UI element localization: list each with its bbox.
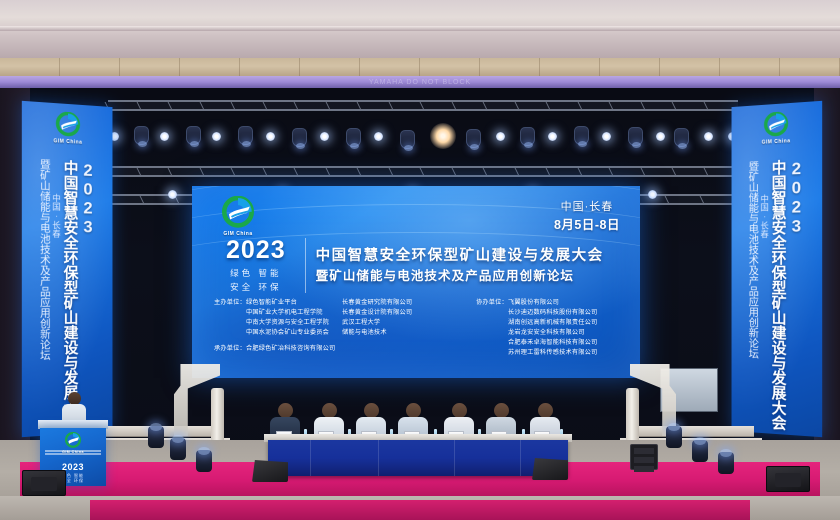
lighting-bar	[108, 118, 738, 158]
undertaker-label: 承办单位：	[214, 344, 246, 354]
banner-left-city: 中国·长春	[52, 193, 61, 237]
drape-seam	[520, 440, 521, 476]
moving-head-light	[466, 129, 481, 148]
panelist-head	[278, 403, 293, 418]
floor-moving-head	[170, 438, 186, 460]
banner-right-logo: GIM China	[755, 111, 798, 147]
drape-seam	[454, 440, 455, 476]
stage-lamp	[496, 132, 505, 141]
host-col2-item-1: 长春黄金设计院有限公司	[342, 308, 454, 318]
stage-lamp	[602, 132, 611, 141]
stage-lamp	[160, 132, 169, 141]
cornice-tiles	[0, 58, 840, 76]
truss-middle	[108, 166, 738, 177]
host-col2-item-0: 长春黄金研究院有限公司	[342, 298, 454, 308]
coorg-item-1: 长沙迪迈数码科技股份有限公司	[476, 308, 597, 318]
coorg-label-row: 协办单位：飞翼股份有限公司	[476, 298, 597, 308]
stage-monitor-speaker	[252, 460, 288, 482]
screen-date-block: 中国·长春 8月5日-8日	[554, 200, 620, 234]
panelist-head	[452, 403, 467, 418]
screen-title-line1: 中国智慧安全环保型矿山建设与发展大会	[316, 247, 620, 265]
floor-moving-head	[148, 426, 164, 448]
undertaker-value: 合肥绿色矿冶科技咨询有限公司	[246, 345, 335, 352]
screen-slogan-line2: 安全 环保	[226, 281, 286, 293]
floor-moving-head	[718, 452, 734, 474]
coorg-item-0: 飞翼股份有限公司	[508, 299, 559, 306]
moving-head-light	[346, 128, 361, 147]
floor-moving-head	[666, 426, 682, 448]
organizer-column-host: 主办单位：绿色智能矿业平台 中国矿业大学机电工程学院 中南大学资源与安全工程学院…	[214, 298, 342, 358]
screen-year: 2023	[226, 238, 286, 263]
moving-head-light	[574, 126, 589, 145]
stage-lamp	[320, 132, 329, 141]
pink-carpet-front	[90, 500, 750, 520]
host-col1-item-2: 中南大学资源与安全工程学院	[214, 318, 342, 328]
host-col2-item-3: 储能与电池技术	[342, 328, 454, 338]
ceiling-cornice	[0, 58, 840, 76]
stage-lamp	[374, 132, 383, 141]
stage-scene: YAMAHA DO NOT BLOCK	[0, 0, 840, 520]
screen-logo: GIM China	[210, 196, 266, 237]
panelist-head	[538, 403, 553, 418]
head-table-drape	[268, 440, 568, 476]
coorg-item-5: 苏州理工雷科传感技术有限公司	[476, 348, 597, 358]
panelist-head	[494, 403, 509, 418]
truss-lattice	[108, 102, 738, 109]
moving-head-light	[292, 128, 307, 147]
host-col1-item-0: 绿色智能矿业平台	[246, 299, 297, 306]
banner-right-year: 2023	[788, 159, 805, 436]
gim-logo-icon	[218, 196, 258, 230]
moving-head-light	[186, 126, 201, 145]
moving-head-light	[238, 126, 253, 145]
coorg-item-4: 合肥泰禾卓海智能科技有限公司	[476, 338, 597, 348]
stage-lamp	[656, 132, 665, 141]
host-label-row: 主办单位：绿色智能矿业平台	[214, 298, 342, 308]
screen-year-block: 2023 绿色 智能 安全 环保	[226, 238, 295, 293]
moving-head-light	[520, 127, 535, 146]
moving-head-light	[400, 130, 415, 149]
moving-head-light	[134, 126, 149, 145]
stage-lamp	[168, 190, 177, 199]
coorg-label: 协办单位：	[476, 298, 508, 308]
floor-moving-head	[692, 440, 708, 462]
screen-title-row: 2023 绿色 智能 安全 环保 中国智慧安全环保型矿山建设与发展大会 暨矿山储…	[226, 238, 620, 293]
stage-lamp	[212, 132, 221, 141]
host-col1-item-1: 中国矿业大学机电工程学院	[214, 308, 342, 318]
screen-location: 中国·长春	[554, 200, 620, 216]
moving-head-light	[674, 128, 689, 147]
main-led-screen: GIM China 中国·长春 8月5日-8日 2023 绿色 智能 安全 环保…	[192, 186, 640, 378]
ceiling-led-strip: YAMAHA DO NOT BLOCK	[0, 76, 840, 88]
coorg-item-3: 龙岩龙安安全科技有限公司	[476, 328, 597, 338]
gim-logo-icon	[761, 111, 791, 139]
newel-post-right	[626, 388, 639, 448]
stage-lamp	[548, 132, 557, 141]
floor-subwoofer	[766, 466, 810, 492]
drape-seam	[378, 440, 379, 476]
moving-head-light	[628, 127, 643, 146]
coorg-item-2: 湖南创远高新机械有限责任公司	[476, 318, 597, 328]
screen-dates: 8月5日-8日	[554, 216, 620, 234]
bright-spotlight	[430, 123, 456, 149]
banner-right-city: 中国·长春	[760, 194, 768, 238]
stage-lamp	[266, 132, 275, 141]
panel-seating-row	[268, 404, 568, 438]
gim-logo-icon	[53, 111, 83, 139]
undertaker-row: 承办单位：合肥绿色矿冶科技咨询有限公司	[214, 344, 342, 354]
host-label: 主办单位：	[214, 298, 246, 308]
stage-monitor-speaker	[532, 458, 568, 480]
banner-left-subtitle: 暨矿山储能与电池技术及产品应用创新论坛	[39, 159, 50, 436]
organizer-column-host2: 长春黄金研究院有限公司 长春黄金设计院有限公司 武汉工程大学 储能与电池技术	[342, 298, 454, 358]
title-divider	[305, 238, 306, 293]
truss-lattice	[108, 168, 738, 175]
drape-seam	[310, 440, 311, 476]
banner-right-title: 中国智慧安全环保型矿山建设与发展大会	[770, 160, 785, 435]
banner-left-logo: GIM China	[46, 111, 89, 147]
screen-titles: 中国智慧安全环保型矿山建设与发展大会 暨矿山储能与电池技术及产品应用创新论坛	[316, 247, 620, 284]
panelist-head	[364, 403, 379, 418]
panelist-head	[322, 403, 337, 418]
newel-post-left	[211, 388, 224, 448]
podium-title-lines	[45, 450, 101, 456]
organizer-column-coorg: 协办单位：飞翼股份有限公司 长沙迪迈数码科技股份有限公司 湖南创远高新机械有限责…	[454, 298, 597, 358]
host-col1-item-3: 中国水泥协会矿山专业委员会	[214, 328, 342, 338]
stage-lamp	[648, 190, 657, 199]
stage-lamp	[704, 132, 713, 141]
truss-top	[108, 100, 738, 111]
screen-slogan-line1: 绿色 智能	[226, 267, 286, 279]
ceiling	[0, 0, 840, 58]
floor-moving-head	[196, 450, 212, 472]
screen-title-line2: 暨矿山储能与电池技术及产品应用创新论坛	[316, 268, 620, 284]
equipment-rack	[630, 444, 658, 470]
panelist-head	[406, 403, 421, 418]
ceiling-led-strip-text: YAMAHA DO NOT BLOCK	[369, 79, 471, 86]
gim-logo-icon	[63, 432, 83, 449]
host-col2-item-2: 武汉工程大学	[342, 318, 454, 328]
floor-subwoofer	[22, 470, 66, 496]
screen-organizers: 主办单位：绿色智能矿业平台 中国矿业大学机电工程学院 中南大学资源与安全工程学院…	[214, 298, 624, 358]
